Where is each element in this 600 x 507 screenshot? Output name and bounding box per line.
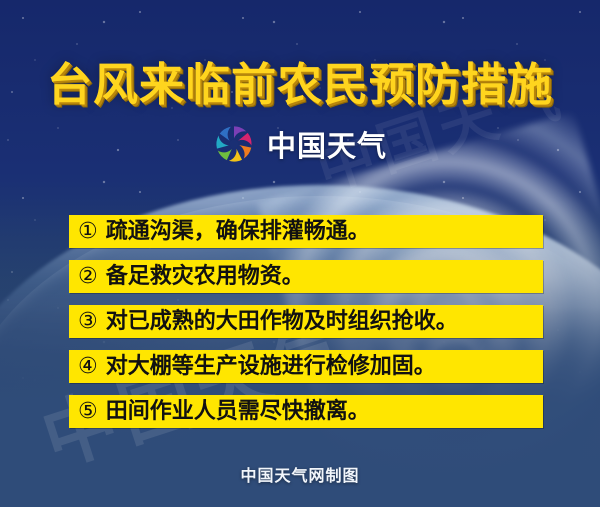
list-item-marker: ① bbox=[78, 221, 98, 243]
list-item-text: 对大棚等生产设施进行检修加固。 bbox=[106, 356, 436, 378]
brand-lockup: 中国天气 bbox=[0, 123, 600, 165]
list-item: ① 疏通沟渠，确保排灌畅通。 bbox=[69, 215, 543, 248]
footer-credit: 中国天气网制图 bbox=[0, 462, 600, 486]
list-item-marker: ③ bbox=[78, 311, 98, 333]
page-title: 台风来临前农民预防措施 bbox=[0, 48, 600, 113]
china-weather-pinwheel-icon bbox=[213, 123, 255, 165]
list-item: ② 备足救灾农用物资。 bbox=[69, 260, 543, 293]
list-item: ③ 对已成熟的大田作物及时组织抢收。 bbox=[69, 305, 543, 338]
list-item-text: 田间作业人员需尽快撤离。 bbox=[106, 401, 370, 423]
list-item-text: 备足救灾农用物资。 bbox=[106, 266, 304, 288]
brand-name: 中国天气 bbox=[267, 123, 387, 165]
list-item-marker: ④ bbox=[78, 356, 98, 378]
list-item-marker: ② bbox=[78, 266, 98, 288]
measures-list: ① 疏通沟渠，确保排灌畅通。 ② 备足救灾农用物资。 ③ 对已成熟的大田作物及时… bbox=[69, 215, 543, 428]
list-item-text: 疏通沟渠，确保排灌畅通。 bbox=[106, 221, 370, 243]
list-item-marker: ⑤ bbox=[78, 401, 98, 423]
list-item: ④ 对大棚等生产设施进行检修加固。 bbox=[69, 350, 543, 383]
list-item: ⑤ 田间作业人员需尽快撤离。 bbox=[69, 395, 543, 428]
list-item-text: 对已成熟的大田作物及时组织抢收。 bbox=[106, 311, 458, 333]
typhoon-prevention-poster: 中国天气 中国天气 台风来临前农民预防措施 中国天气 ① 疏通沟 bbox=[0, 0, 600, 507]
